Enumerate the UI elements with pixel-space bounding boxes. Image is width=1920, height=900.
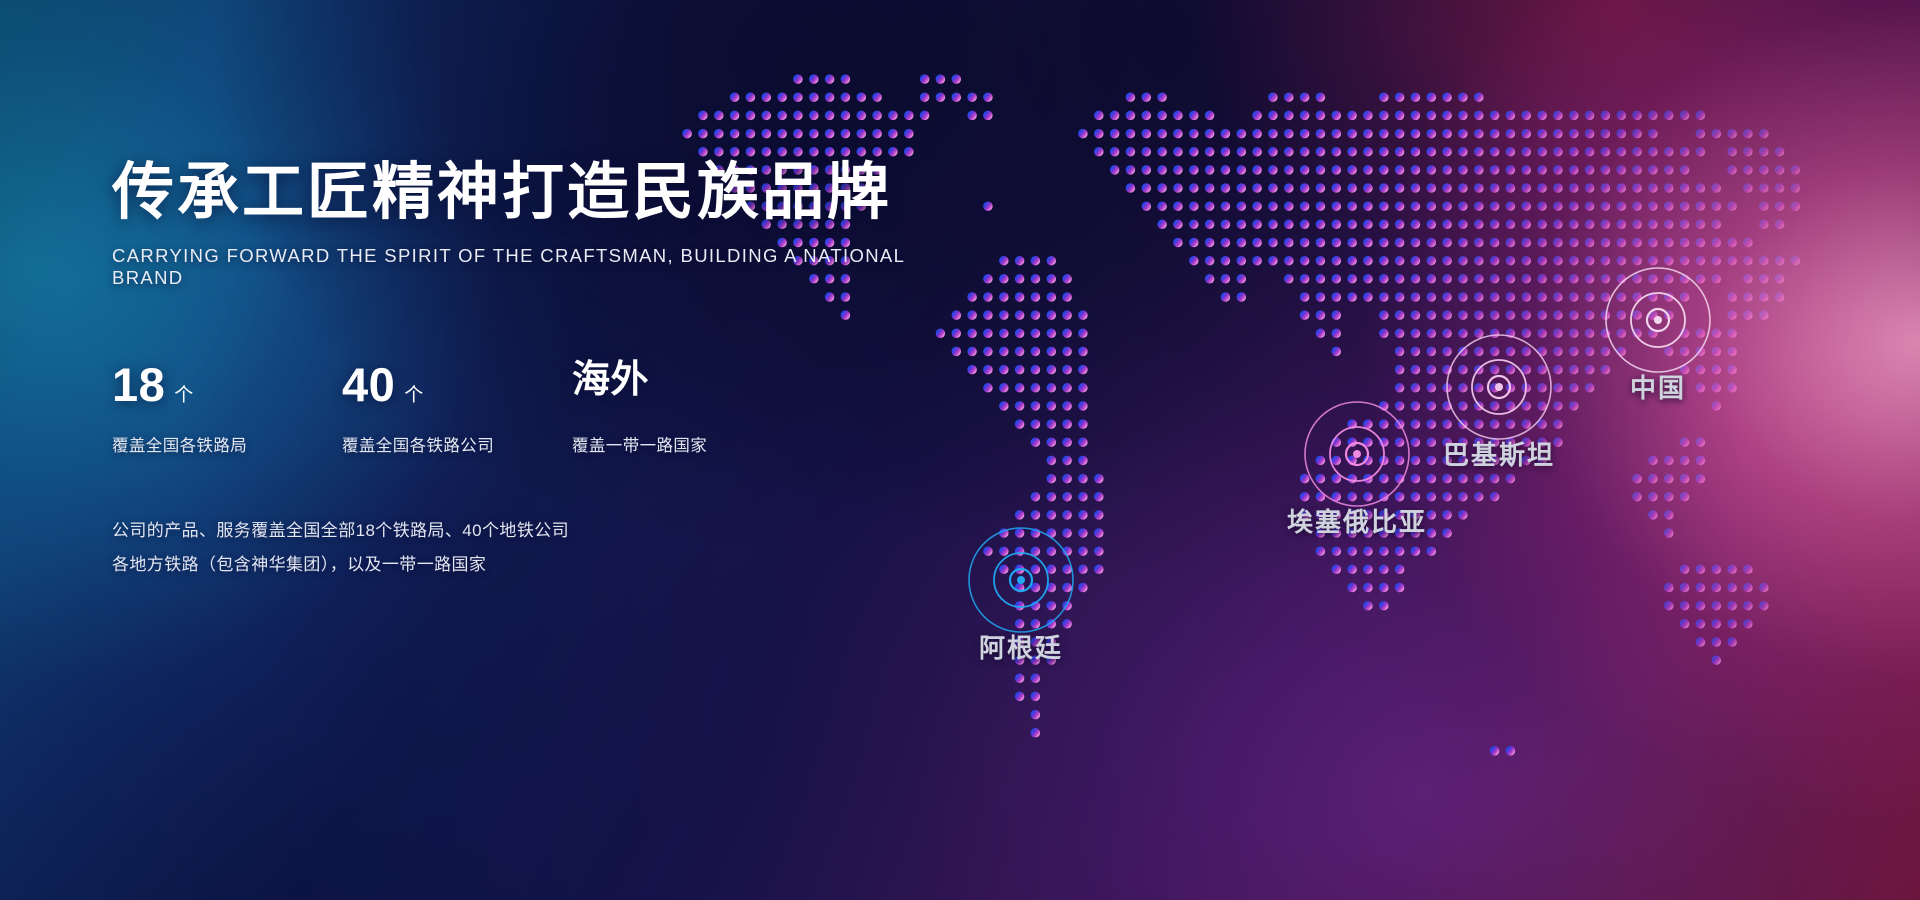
stat-item-overseas: 海外 覆盖一带一路国家 [572,361,707,456]
description-line-2: 各地方铁路（包含神华集团），以及一带一路国家 [112,548,952,582]
description-block: 公司的产品、服务覆盖全国全部18个铁路局、40个地铁公司 各地方铁路（包含神华集… [112,514,952,582]
stat-item-metro-companies: 40 个 覆盖全国各铁路公司 [342,361,510,456]
stat-value: 18 [112,361,165,408]
stat-value: 海外 [572,361,649,399]
stat-item-railway-bureaus: 18 个 覆盖全国各铁路局 [112,361,280,456]
content-block: 传承工匠精神打造民族品牌 CARRYING FORWARD THE SPIRIT… [112,160,952,582]
banner-stage: 中国巴基斯坦埃塞俄比亚阿根廷 传承工匠精神打造民族品牌 CARRYING FOR… [0,0,1920,900]
stat-caption: 覆盖一带一路国家 [572,432,707,456]
stat-caption: 覆盖全国各铁路公司 [342,432,510,456]
description-line-1: 公司的产品、服务覆盖全国全部18个铁路局、40个地铁公司 [112,514,952,548]
stat-value-group: 18 个 [112,361,280,419]
stat-value-group: 40 个 [342,361,510,419]
stat-unit: 个 [404,380,423,407]
stat-value: 40 [342,361,395,408]
page-title: 传承工匠精神打造民族品牌 [112,160,952,227]
stat-caption: 覆盖全国各铁路局 [112,432,280,456]
stat-value-group: 海外 [572,361,707,419]
stat-unit: 个 [174,380,193,407]
page-subtitle: CARRYING FORWARD THE SPIRIT OF THE CRAFT… [112,245,952,289]
stats-row: 18 个 覆盖全国各铁路局 40 个 覆盖全国各铁路公司 海外 覆盖一带一路国家 [112,361,952,456]
